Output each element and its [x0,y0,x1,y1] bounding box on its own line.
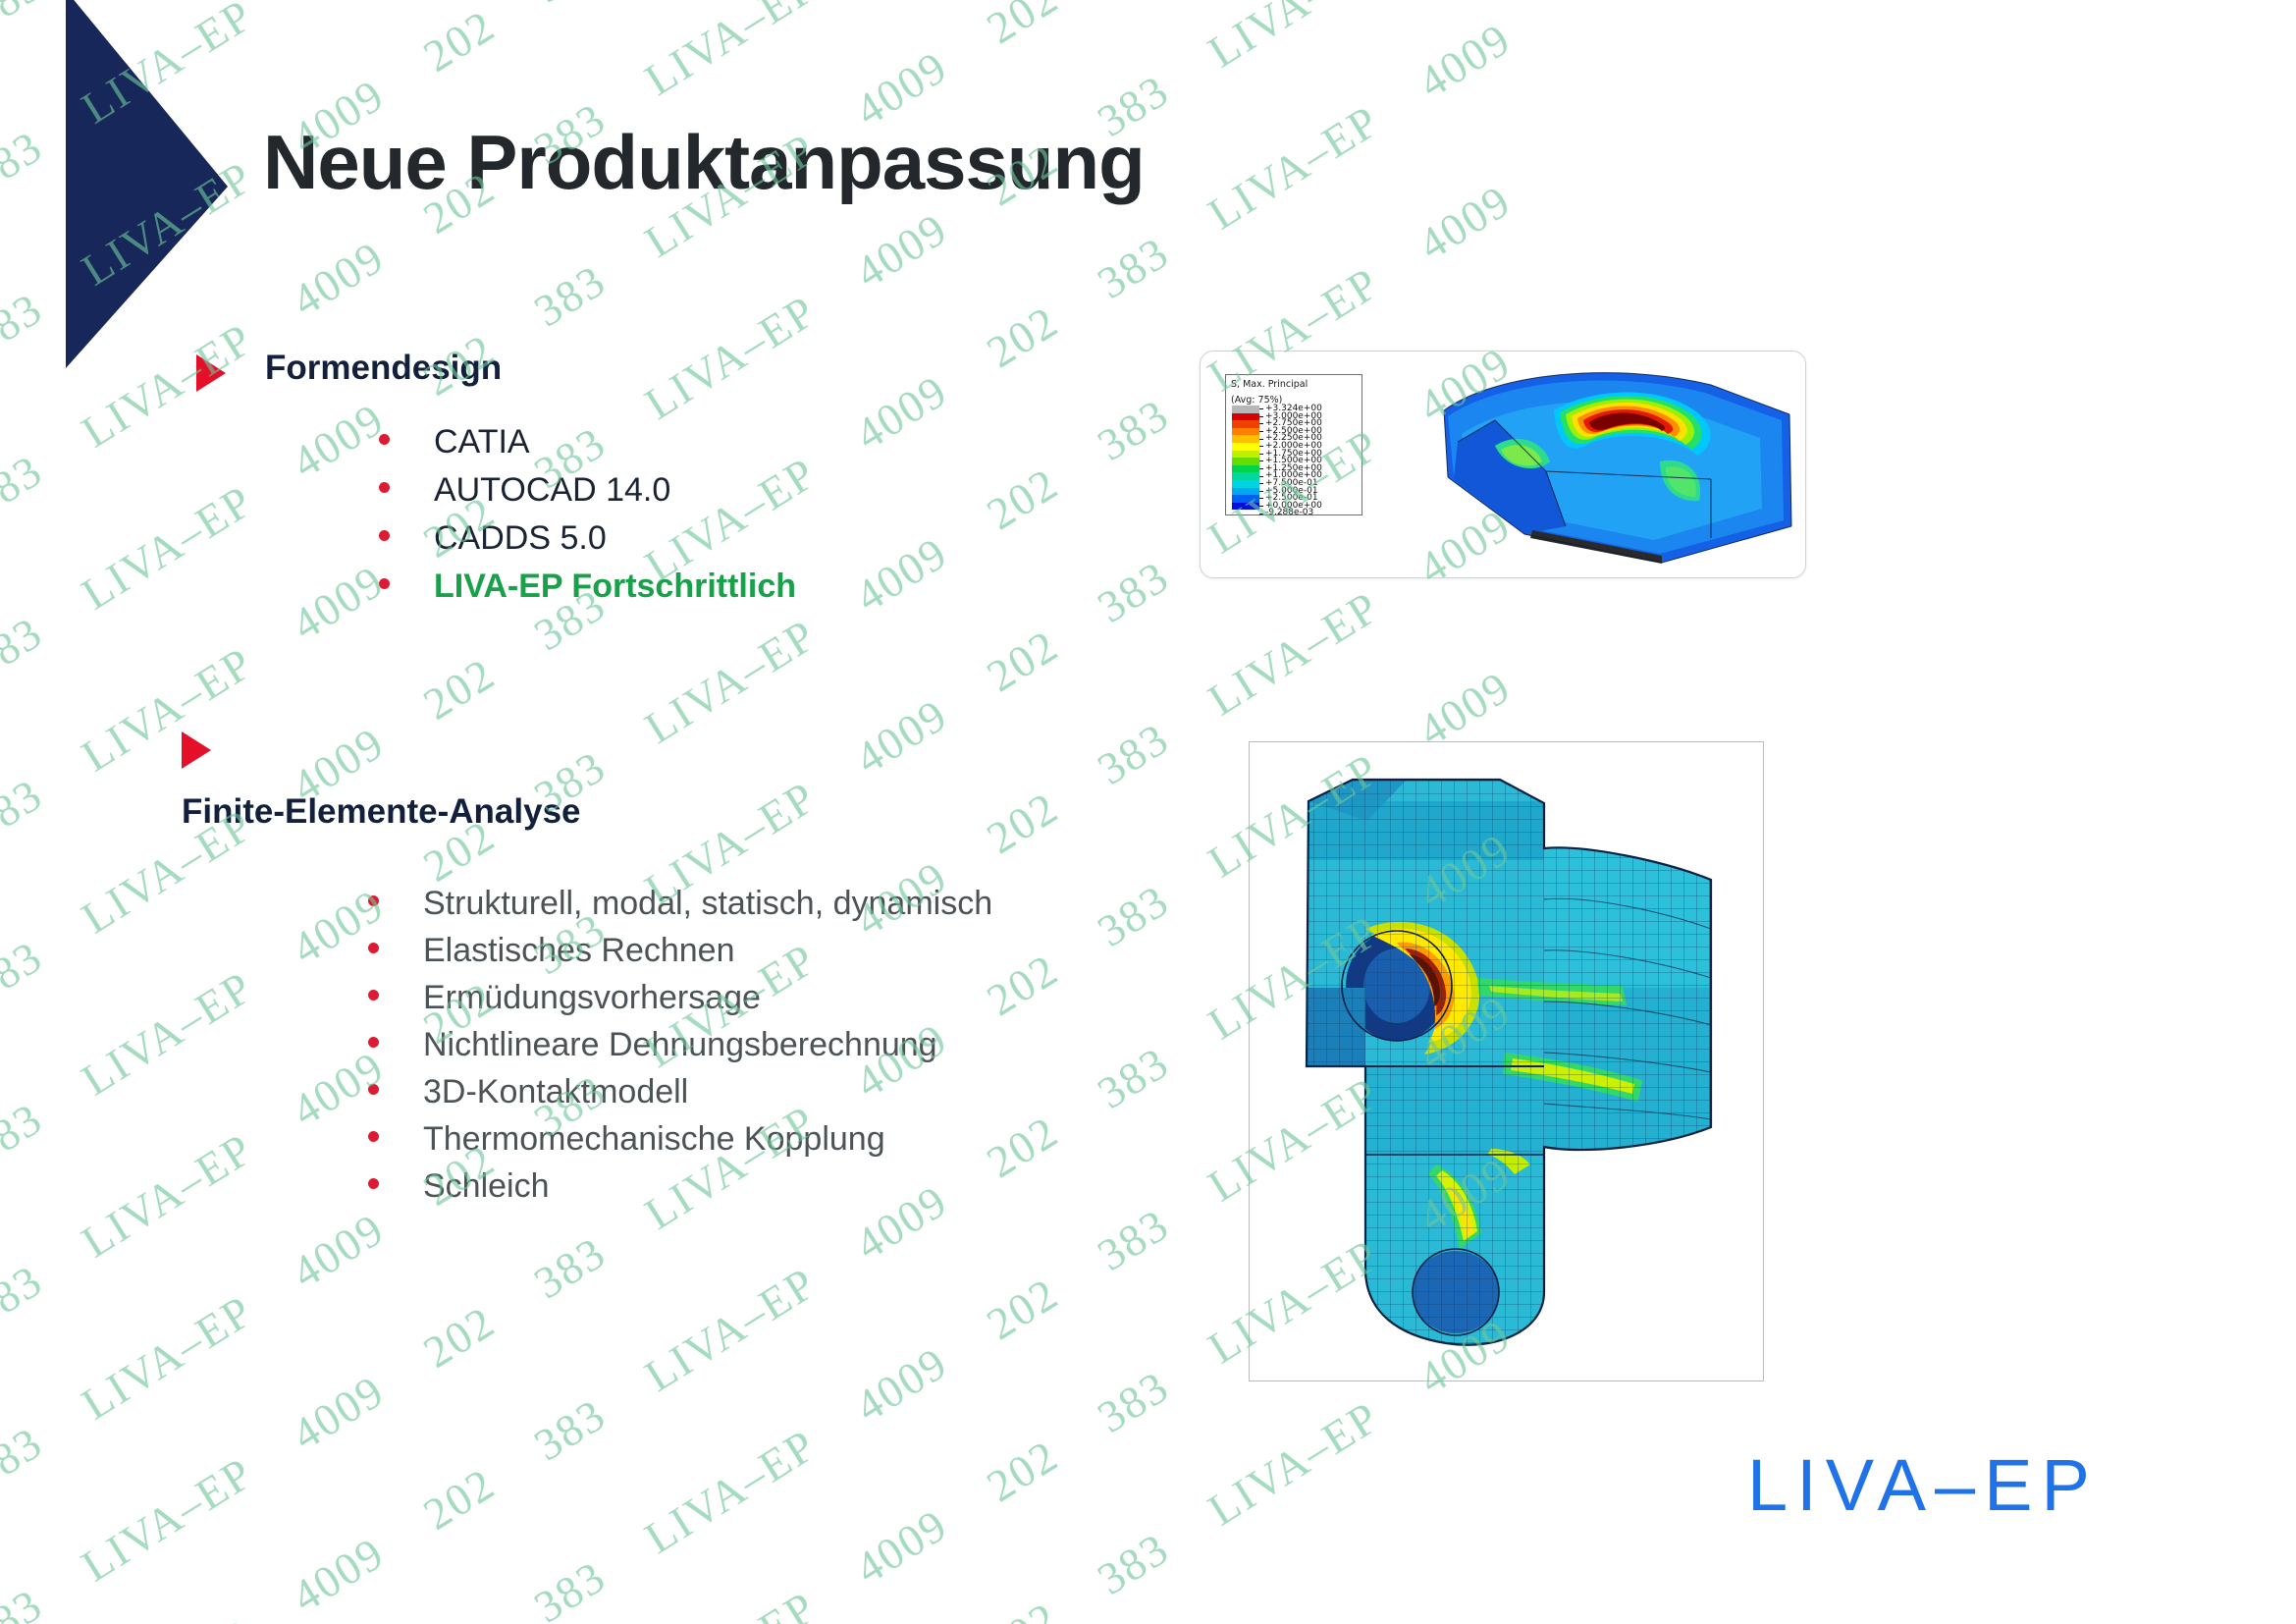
red-dot-bullet-icon [368,990,379,1001]
legend-color-swatch [1232,480,1259,488]
page-title: Neue Produktanpassung [263,118,1145,207]
list-item-label-highlight: LIVA-EP Fortschrittlich [434,569,796,603]
legend-color-swatch [1232,465,1259,473]
list-item[interactable]: Elastisches Rechnen [368,934,992,981]
legend-color-swatch [1232,472,1259,480]
legend-tick-mark [1259,514,1263,514]
list-item-label: AUTOCAD 14.0 [434,473,670,507]
red-dot-bullet-icon [368,895,379,906]
list-item[interactable]: CADDS 5.0 [379,521,796,569]
legend-row: -9.288e-03 [1232,510,1322,517]
legend-color-swatch [1232,420,1259,428]
list-item[interactable]: AUTOCAD 14.0 [379,473,796,521]
legend-color-swatch [1232,428,1259,436]
red-triangle-bullet-icon [196,354,226,392]
list-item-label: Strukturell, modal, statisch, dynamisch [423,887,992,920]
legend-tick-mark [1259,476,1263,477]
legend-color-swatch [1232,443,1259,451]
list-item-label: Elastisches Rechnen [423,934,735,967]
formendesign-list: CATIA AUTOCAD 14.0 CADDS 5.0 LIVA-EP For… [379,425,796,618]
legend-value-label: -9.288e-03 [1265,510,1313,517]
legend-tick-mark [1259,483,1263,484]
list-item[interactable]: 3D-Kontaktmodell [368,1075,992,1122]
red-dot-bullet-icon [379,482,390,493]
fea-list: Strukturell, modal, statisch, dynamisch … [368,887,992,1217]
section-heading-row: Finite-Elemente-Analyse [182,731,992,771]
list-item[interactable]: Thermomechanische Kopplung [368,1122,992,1169]
red-dot-bullet-icon [368,1037,379,1048]
section-heading-row: Formendesign [196,349,796,392]
legend-tick-mark [1259,431,1263,432]
list-item[interactable]: CATIA [379,425,796,473]
legend-tick-mark [1259,468,1263,469]
legend-tick-mark [1259,491,1263,492]
red-triangle-bullet-icon [182,731,211,769]
section-finite-elemente-analyse: Finite-Elemente-Analyse Strukturell, mod… [182,731,992,1217]
red-dot-bullet-icon [379,530,390,541]
slide-canvas: Neue Produktanpassung Formendesign CATIA… [0,0,2296,1624]
legend-tick-mark [1259,439,1263,440]
red-dot-bullet-icon [379,434,390,445]
legend-color-swatch [1232,413,1259,421]
legend-color-swatch [1232,406,1259,413]
mesh-geometry [1250,742,1761,1379]
legend-tick-mark [1259,446,1263,447]
legend-color-swatch [1232,458,1259,465]
legend-scale: +3.324e+00+3.000e+00+2.750e+00+2.500e+00… [1232,406,1322,517]
list-item[interactable]: LIVA-EP Fortschrittlich [379,569,796,618]
legend-color-swatch [1232,503,1259,511]
red-dot-bullet-icon [368,1131,379,1142]
list-item-label: Thermomechanische Kopplung [423,1122,885,1156]
legend-color-swatch [1232,451,1259,459]
list-item-label: CATIA [434,425,530,459]
red-dot-bullet-icon [368,1084,379,1095]
liva-ep-logo: LIVA–EP [1747,1443,2099,1527]
list-item-label: Nichtlineare Dehnungsberechnung [423,1028,937,1061]
legend-tick-mark [1259,408,1263,409]
list-item[interactable]: Nichtlineare Dehnungsberechnung [368,1028,992,1075]
red-dot-bullet-icon [368,1178,379,1189]
legend-tick-mark [1259,416,1263,417]
section-formendesign: Formendesign CATIA AUTOCAD 14.0 CADDS 5.… [196,349,796,618]
fea-stress-contour-figure[interactable]: S, Max. Principal (Avg: 75%) +3.324e+00+… [1200,351,1806,578]
list-item[interactable]: Ermüdungsvorhersage [368,981,992,1028]
legend-tick-mark [1259,423,1263,424]
contour-legend: S, Max. Principal (Avg: 75%) +3.324e+00+… [1225,374,1362,515]
legend-color-swatch [1232,488,1259,496]
list-item-label: 3D-Kontaktmodell [423,1075,688,1109]
legend-title-line1: S, Max. Principal [1231,379,1362,391]
legend-color-swatch [1232,495,1259,503]
fea-mesh-figure[interactable] [1249,741,1764,1381]
legend-tick-mark [1259,454,1263,455]
list-item[interactable]: Schleich [368,1169,992,1217]
red-dot-bullet-icon [379,578,390,589]
legend-color-swatch [1232,435,1259,443]
list-item-label: Ermüdungsvorhersage [423,981,761,1014]
contour-canvas: S, Max. Principal (Avg: 75%) +3.324e+00+… [1201,352,1805,577]
legend-tick-mark [1259,460,1263,461]
list-item[interactable]: Strukturell, modal, statisch, dynamisch [368,887,992,934]
list-item-label: CADDS 5.0 [434,521,607,555]
legend-tick-mark [1259,506,1263,507]
section-heading-label: Formendesign [265,349,502,388]
list-item-label: Schleich [423,1169,550,1203]
section-heading-label: Finite-Elemente-Analyse [182,792,581,831]
legend-tick-mark [1259,498,1263,499]
red-dot-bullet-icon [368,943,379,953]
